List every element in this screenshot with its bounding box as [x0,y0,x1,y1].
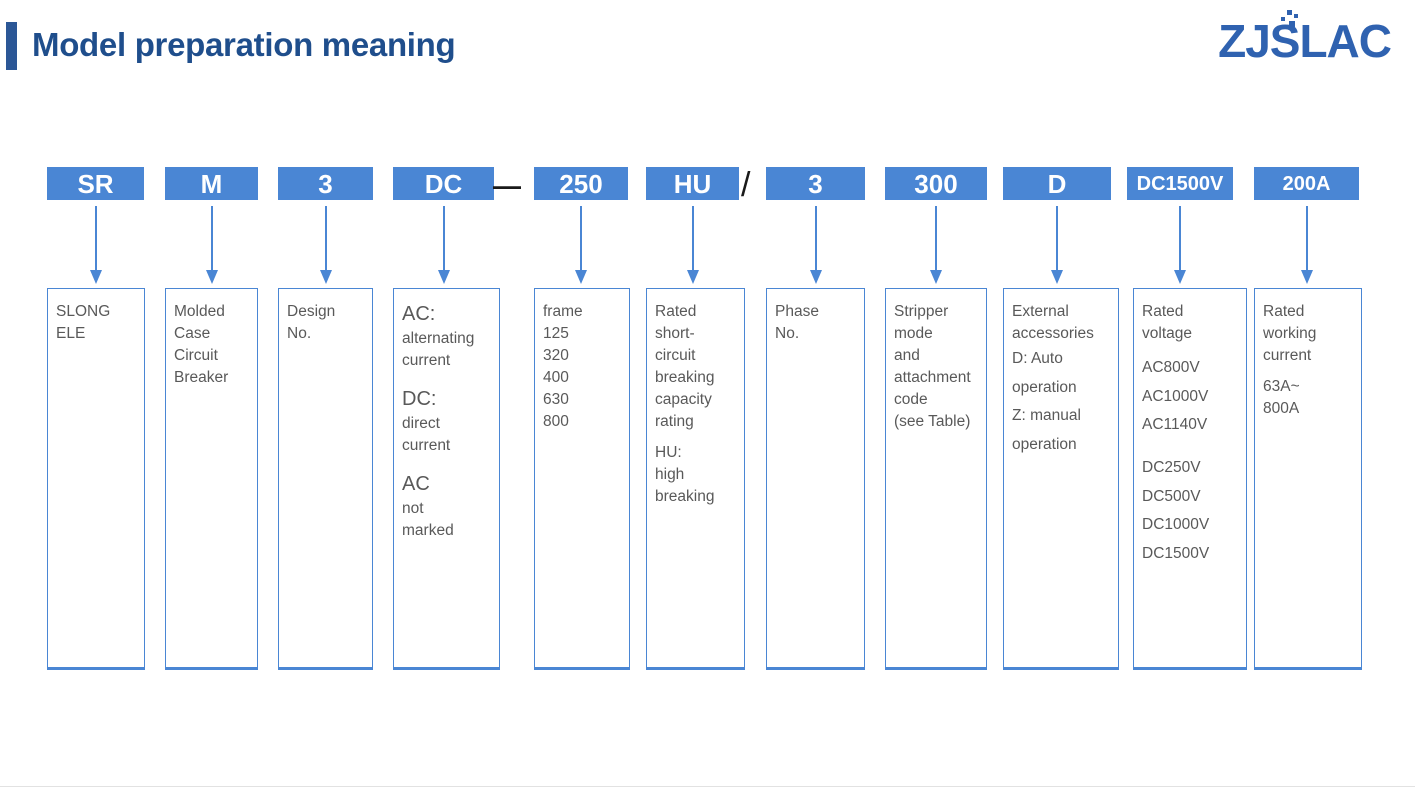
description-box-4: AC:alternatingcurrentDC:directcurrentACn… [393,288,500,670]
description-line: marked [402,520,499,542]
description-line: not [402,498,499,520]
description-box-3: DesignNo. [278,288,373,670]
description-line: current [402,435,499,457]
description-line: 800 [543,411,629,433]
code-box-6: HU [646,167,739,200]
description-line: AC1140V [1142,411,1246,440]
description-line: DC1000V [1142,511,1246,540]
description-line: DC500V [1142,483,1246,512]
description-line: Rated [655,301,744,323]
description-line: No. [775,323,864,345]
code-box-8: 300 [885,167,987,200]
description-line: 630 [543,389,629,411]
description-line: SLONG [56,301,144,323]
description-line: current [402,350,499,372]
description-line: frame [543,301,629,323]
arrow-down-icon-1 [90,206,103,286]
description-line: operation [1012,374,1118,403]
description-box-11: Ratedworkingcurrent63A~800A [1254,288,1362,670]
description-box-9: ExternalaccessoriesD: AutooperationZ: ma… [1003,288,1119,670]
description-line: ELE [56,323,144,345]
description-line: breaking [655,367,744,389]
separator-dash: — [493,172,521,200]
description-line: code [894,389,986,411]
description-line: Case [174,323,257,345]
description-line: DC250V [1142,454,1246,483]
arrow-down-icon-8 [930,206,943,286]
model-code-diagram: SRM3DC250HU3300DDC1500V200A — / SLONGELE… [0,0,1415,797]
footer-divider [0,786,1415,787]
description-line: capacity [655,389,744,411]
description-line: working [1263,323,1361,345]
description-box-6: Ratedshort-circuitbreakingcapacityrating… [646,288,745,670]
arrow-down-icon-7 [810,206,823,286]
code-box-9: D [1003,167,1111,200]
arrow-down-icon-5 [575,206,588,286]
description-line: Circuit [174,345,257,367]
description-line: accessories [1012,323,1118,345]
code-box-10: DC1500V [1127,167,1233,200]
description-line: 400 [543,367,629,389]
description-line: (see Table) [894,411,986,433]
code-box-4: DC [393,167,494,200]
code-box-7: 3 [766,167,865,200]
arrow-down-icon-2 [206,206,219,286]
separator-slash: / [741,168,750,202]
description-line: Rated [1263,301,1361,323]
description-line: AC800V [1142,354,1246,383]
description-line: 800A [1263,398,1361,420]
description-line: Rated [1142,301,1246,323]
description-line: Breaker [174,367,257,389]
description-line: No. [287,323,372,345]
description-line: operation [1012,431,1118,460]
code-box-11: 200A [1254,167,1359,200]
description-line: short- [655,323,744,345]
description-line: and [894,345,986,367]
description-line: AC [402,471,499,498]
description-box-2: MoldedCaseCircuitBreaker [165,288,258,670]
description-line: Stripper [894,301,986,323]
description-box-8: Strippermodeandattachmentcode(see Table) [885,288,987,670]
description-line: direct [402,413,499,435]
description-line: high [655,464,744,486]
description-line: D: Auto [1012,345,1118,374]
description-line: Z: manual [1012,402,1118,431]
description-line: attachment [894,367,986,389]
arrow-down-icon-6 [687,206,700,286]
code-box-1: SR [47,167,144,200]
arrow-down-icon-3 [320,206,333,286]
description-line: AC1000V [1142,383,1246,412]
description-line: rating [655,411,744,433]
description-line: DC: [402,386,499,413]
description-line: Phase [775,301,864,323]
description-line: circuit [655,345,744,367]
code-box-5: 250 [534,167,628,200]
description-box-7: PhaseNo. [766,288,865,670]
description-line: current [1263,345,1361,367]
description-line: alternating [402,328,499,350]
description-line: breaking [655,486,744,508]
code-box-3: 3 [278,167,373,200]
description-line: Molded [174,301,257,323]
description-line: DC1500V [1142,540,1246,569]
description-box-5: frame125320400630800 [534,288,630,670]
description-line: 63A~ [1263,376,1361,398]
arrow-down-icon-11 [1301,206,1314,286]
description-line: External [1012,301,1118,323]
description-box-10: RatedvoltageAC800VAC1000VAC1140VDC250VDC… [1133,288,1247,670]
description-line: 320 [543,345,629,367]
description-line: 125 [543,323,629,345]
arrow-down-icon-4 [438,206,451,286]
arrow-down-icon-10 [1174,206,1187,286]
description-line: Design [287,301,372,323]
description-line: HU: [655,442,744,464]
code-box-2: M [165,167,258,200]
description-box-1: SLONGELE [47,288,145,670]
description-line: voltage [1142,323,1246,345]
description-line: AC: [402,301,499,328]
arrow-down-icon-9 [1051,206,1064,286]
description-line: mode [894,323,986,345]
